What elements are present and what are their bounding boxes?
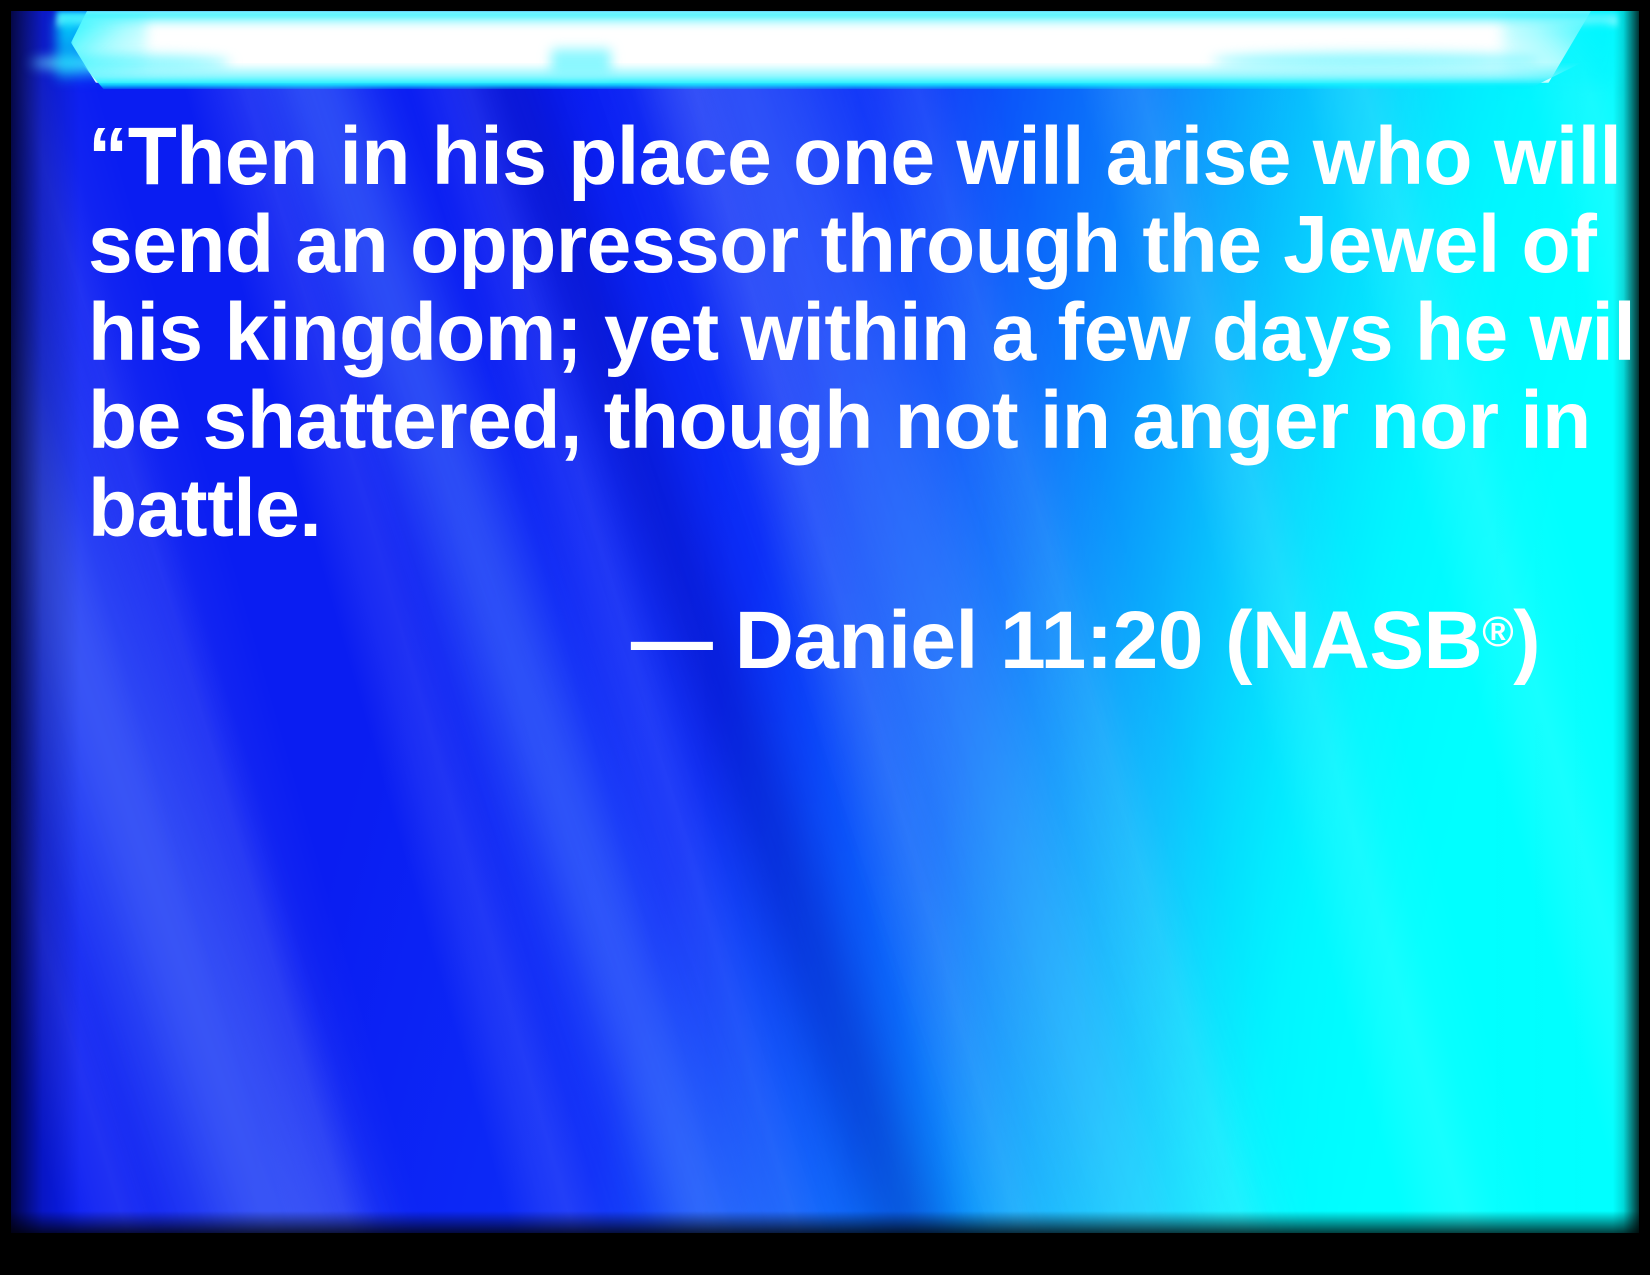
verse-line-2: send an oppressor through the Jewel of xyxy=(88,201,1519,289)
attribution-translation: NASB xyxy=(1252,595,1482,686)
top-glow-taper-right xyxy=(1503,19,1613,85)
attribution-reference: 11:20 xyxy=(1000,595,1203,686)
top-glow-band-cyan-edge-top xyxy=(57,11,1617,29)
verse-slide: “Then in his place one will arise who wi… xyxy=(0,0,1650,1275)
registered-trademark-icon: ® xyxy=(1482,608,1513,656)
attribution-book: Daniel xyxy=(735,595,978,686)
top-glow-wisp-right xyxy=(1211,53,1541,69)
verse-line-3: his kingdom; yet within a few days he wi… xyxy=(88,289,1519,377)
top-glow-taper-left xyxy=(57,17,147,79)
verse-line-4: be shattered, though not in anger nor in xyxy=(88,377,1519,465)
verse-line-5: battle. xyxy=(88,465,1519,553)
slide-canvas: “Then in his place one will arise who wi… xyxy=(11,11,1639,1233)
background-bottom-vignette xyxy=(11,1211,1639,1233)
attribution-close-paren: ) xyxy=(1513,595,1540,686)
attribution-open-paren: ( xyxy=(1225,595,1252,686)
verse-line-1: “Then in his place one will arise who wi… xyxy=(88,113,1519,201)
background-left-vignette xyxy=(11,11,81,1233)
top-glow-wisp-center xyxy=(551,49,611,75)
verse-attribution: — Daniel 11:20 (NASB®) xyxy=(88,597,1548,685)
attribution-dash: — xyxy=(631,595,713,686)
verse-text-block: “Then in his place one will arise who wi… xyxy=(88,113,1548,685)
